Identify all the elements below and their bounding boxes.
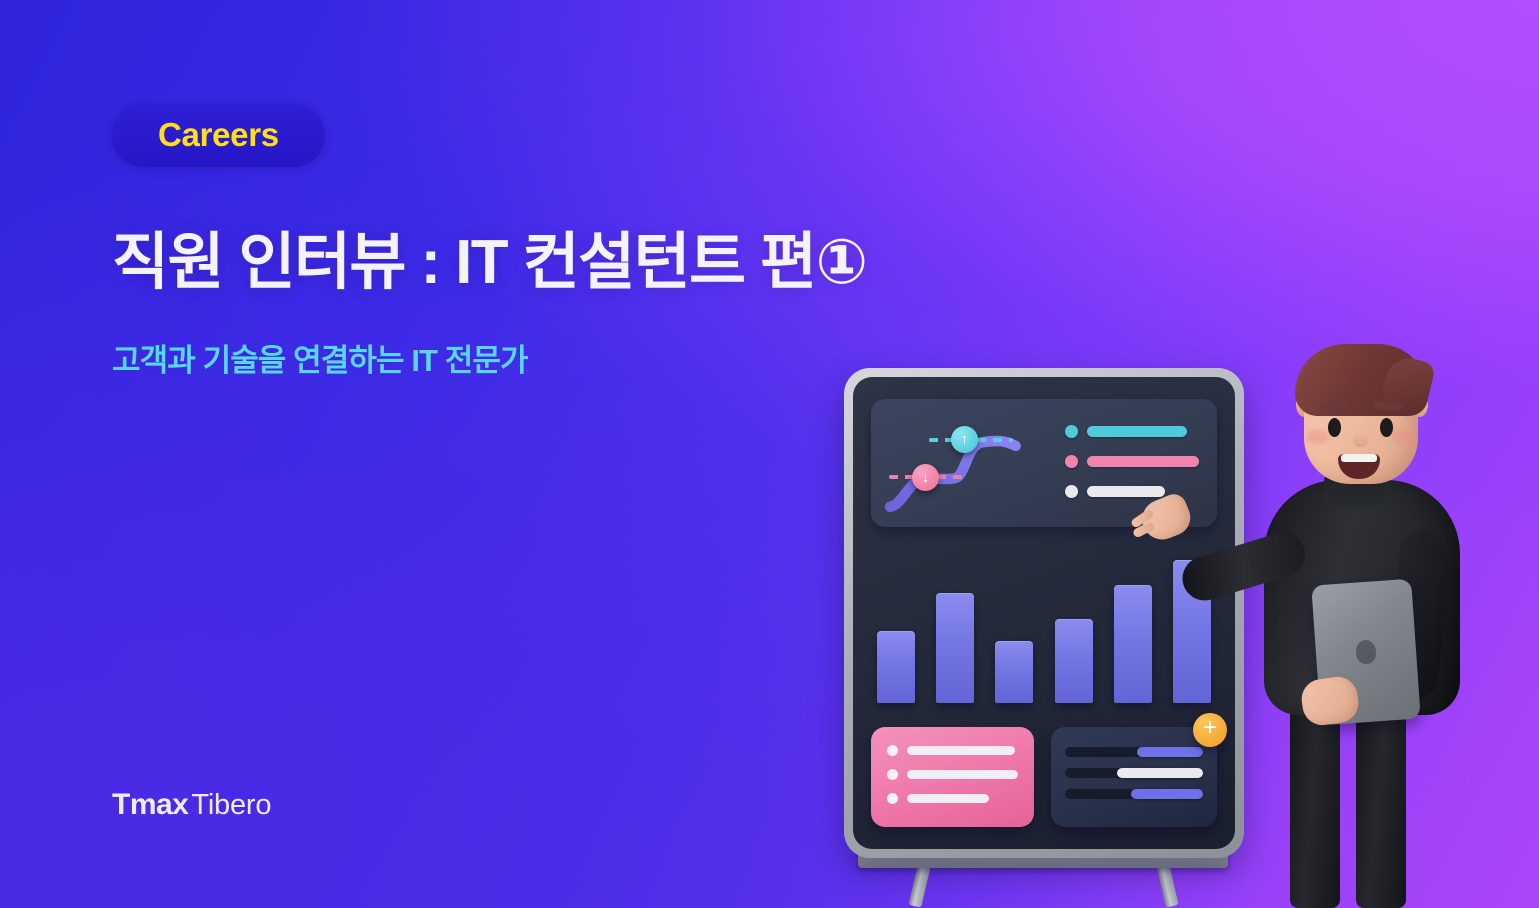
tmax-tibero-logo: Tmax Tibero <box>112 788 271 822</box>
hero-illustration: ↓ ↑ <box>820 330 1539 908</box>
legend-dot-teal <box>1065 425 1078 438</box>
legend-bar-pink <box>1087 456 1199 467</box>
list-item <box>887 793 1018 804</box>
bar <box>936 593 974 703</box>
whiteboard-frame: ↓ ↑ <box>844 368 1244 858</box>
presenter-character <box>1198 330 1528 908</box>
bar-chart <box>871 553 1217 703</box>
legend-dot-white <box>1065 485 1078 498</box>
tablet-logo-icon <box>1355 639 1377 664</box>
list-item-bar <box>907 746 1015 755</box>
blush-left <box>1306 430 1329 444</box>
eye-right <box>1380 418 1393 437</box>
legend-row <box>1065 485 1203 498</box>
line-chart: ↓ ↑ <box>871 399 1061 527</box>
progress-fill <box>1137 747 1203 757</box>
list-item-bar <box>907 794 989 803</box>
chart-legend <box>1061 399 1217 527</box>
bullet-dot <box>887 793 898 804</box>
progress-track <box>1065 747 1203 757</box>
list-item <box>887 745 1018 756</box>
eye-left <box>1328 418 1341 437</box>
legend-row <box>1065 425 1203 438</box>
trend-up-marker: ↑ <box>951 426 978 453</box>
whiteboard-screen: ↓ ↑ <box>853 377 1235 849</box>
careers-banner: Careers 직원 인터뷰 : IT 컨설턴트 편① 고객과 기술을 연결하는… <box>0 0 1539 908</box>
bar <box>995 641 1033 703</box>
progress-track <box>1065 768 1203 778</box>
banner-headline: 직원 인터뷰 : IT 컨설턴트 편① <box>112 227 1132 298</box>
bullet-dot <box>887 745 898 756</box>
line-chart-svg <box>871 399 1061 527</box>
logo-tmax-text: Tmax <box>112 788 188 822</box>
category-badge-careers[interactable]: Careers <box>112 104 325 167</box>
bar <box>1114 585 1152 703</box>
blush-right <box>1392 430 1415 444</box>
bar <box>1055 619 1093 703</box>
bar <box>877 631 915 703</box>
teeth <box>1341 454 1377 462</box>
pink-list-card <box>871 727 1034 827</box>
legend-row <box>1065 455 1203 468</box>
legend-bar-white <box>1087 486 1165 497</box>
list-item-bar <box>907 770 1018 779</box>
nose <box>1353 434 1368 447</box>
list-item <box>887 769 1018 780</box>
progress-fill <box>1117 768 1203 778</box>
logo-tibero-text: Tibero <box>191 789 271 822</box>
progress-track <box>1065 789 1203 799</box>
trend-down-marker: ↓ <box>912 464 939 491</box>
bottom-cards: + <box>871 727 1217 827</box>
legend-bar-teal <box>1087 426 1187 437</box>
bullet-dot <box>887 769 898 780</box>
legend-dot-pink <box>1065 455 1078 468</box>
dark-progress-card: + <box>1051 727 1217 827</box>
progress-fill <box>1131 789 1203 799</box>
